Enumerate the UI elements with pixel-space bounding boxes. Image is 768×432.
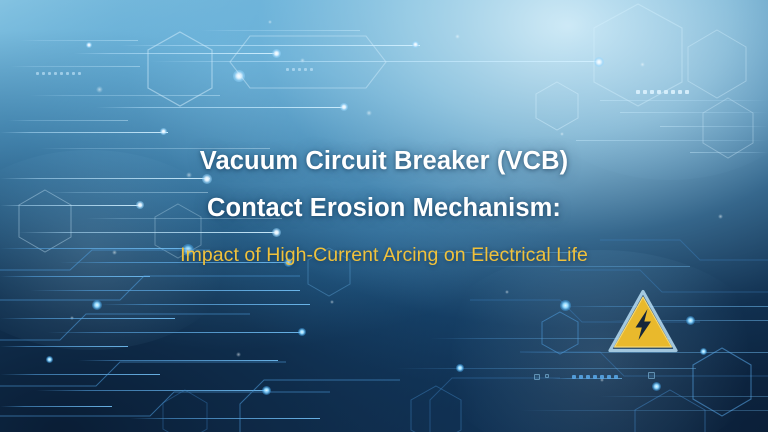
hexagon-outline — [145, 30, 215, 108]
page-subtitle: Impact of High-Current Arcing on Electri… — [0, 241, 768, 269]
page-title-line-1: Vacuum Circuit Breaker (VCB) — [0, 138, 768, 185]
title-slide: Vacuum Circuit Breaker (VCB) Contact Ero… — [0, 0, 768, 432]
page-title-line-2: Contact Erosion Mechanism: — [0, 185, 768, 232]
high-voltage-warning-icon — [608, 288, 678, 356]
title-text-block: Vacuum Circuit Breaker (VCB) Contact Ero… — [0, 138, 768, 269]
